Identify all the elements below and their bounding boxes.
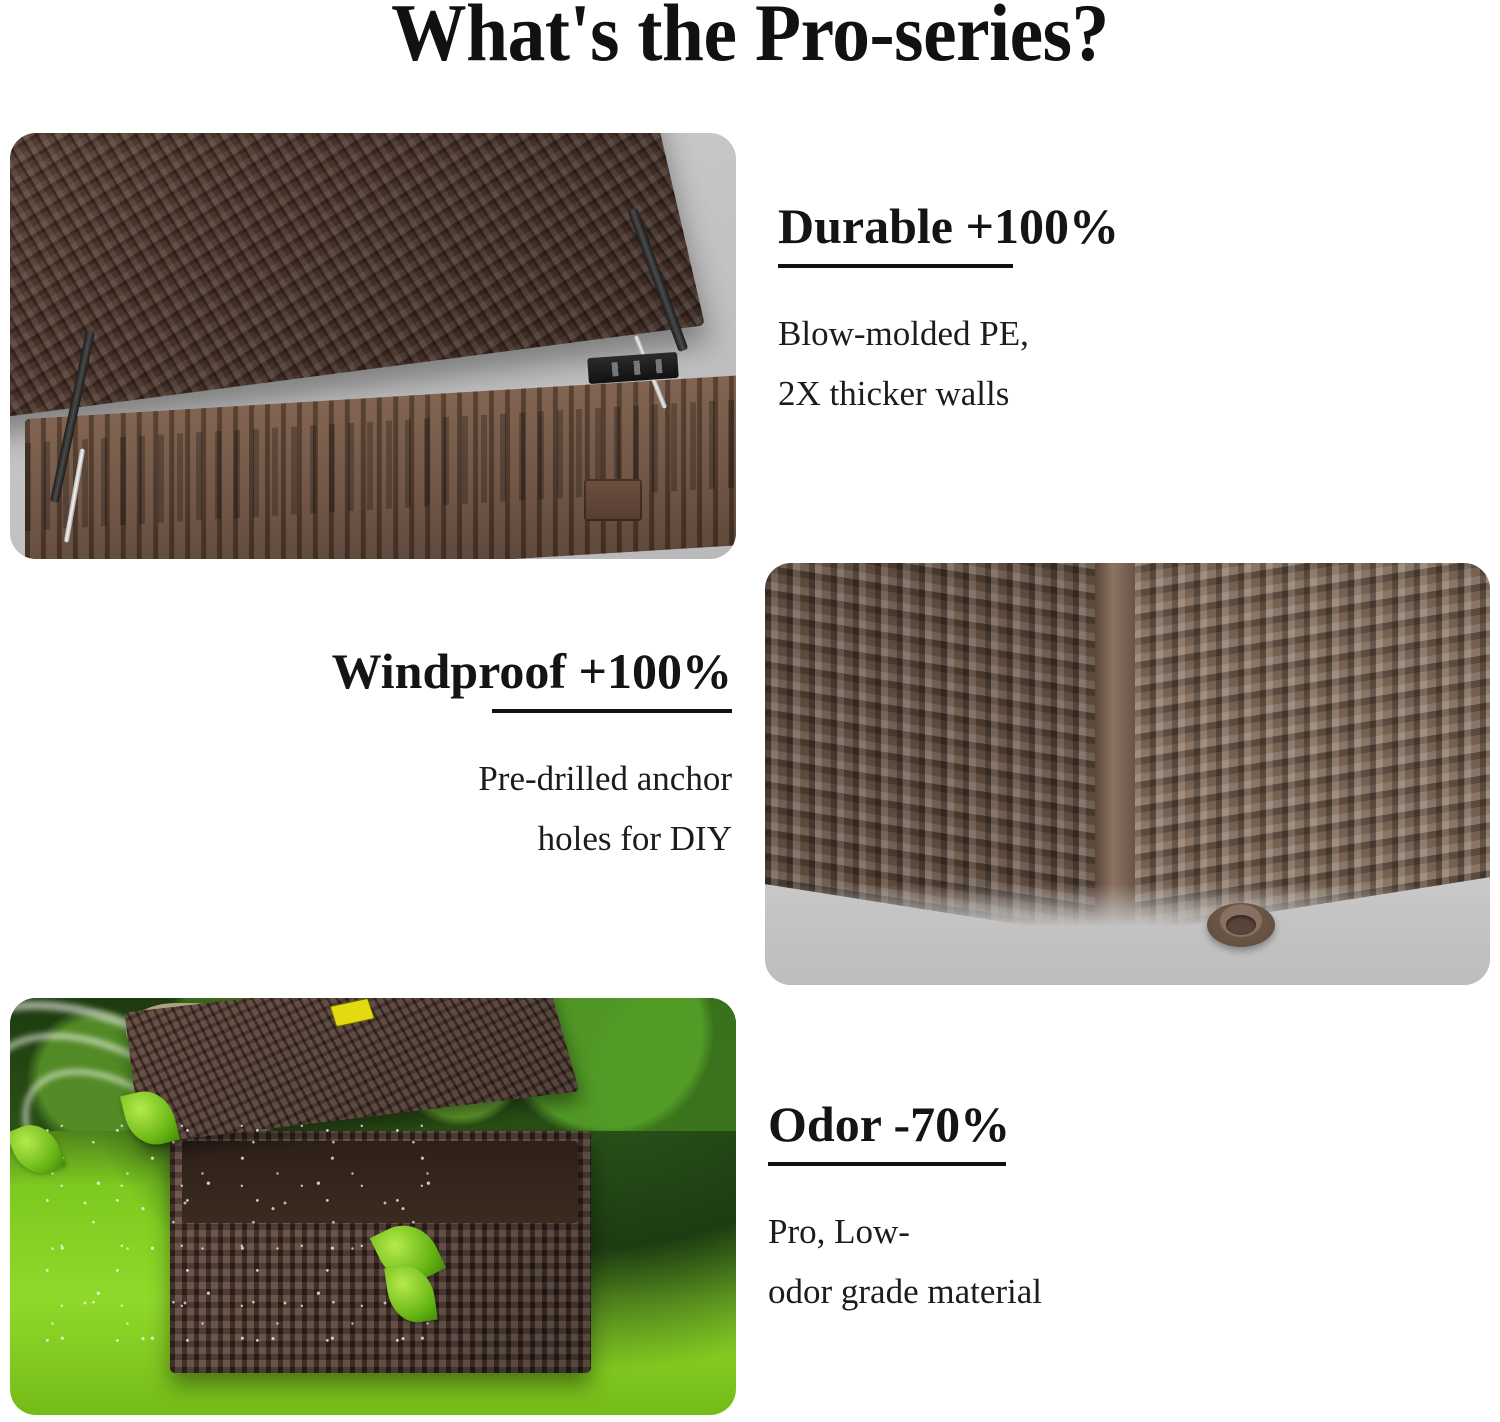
feature-body-line-1: Pro, Low- xyxy=(768,1202,1388,1262)
feature-underline-odor xyxy=(768,1162,1006,1166)
feature-underline-durable xyxy=(778,264,1013,268)
wicker-panel-left xyxy=(765,563,1106,939)
feature-block-durable: Durable +100% Blow-molded PE, 2X thicker… xyxy=(778,200,1378,424)
feature-heading-windproof: Windproof +100% xyxy=(270,645,732,698)
feature-body-durable: Blow-molded PE, 2X thicker walls xyxy=(778,304,1378,424)
lid-hinge xyxy=(587,351,679,383)
page-title: What's the Pro-series? xyxy=(60,0,1440,80)
product-photo-open-box xyxy=(10,133,736,559)
anchor-foot-icon xyxy=(1207,903,1275,947)
feature-heading-odor: Odor -70% xyxy=(768,1098,1388,1151)
side-handle xyxy=(584,479,642,521)
feature-body-line-2: odor grade material xyxy=(768,1262,1388,1322)
feature-body-line-2: holes for DIY xyxy=(270,809,732,869)
deck-box-body xyxy=(25,375,736,559)
product-photo-wicker-corner xyxy=(765,563,1490,985)
feature-body-odor: Pro, Low- odor grade material xyxy=(768,1202,1388,1322)
feature-body-line-2: 2X thicker walls xyxy=(778,364,1378,424)
feature-heading-durable: Durable +100% xyxy=(778,200,1378,253)
feature-block-windproof: Windproof +100% Pre-drilled anchor holes… xyxy=(270,645,732,869)
product-photo-garden-scene xyxy=(10,998,736,1415)
feature-body-windproof: Pre-drilled anchor holes for DIY xyxy=(270,749,732,869)
feature-underline-windproof xyxy=(492,709,732,713)
infographic-page: What's the Pro-series? Durable +100% Blo… xyxy=(0,0,1500,1422)
feature-body-line-1: Blow-molded PE, xyxy=(778,304,1378,364)
feature-body-line-1: Pre-drilled anchor xyxy=(270,749,732,809)
wicker-panel-right xyxy=(1106,563,1490,939)
warning-label-icon xyxy=(329,998,374,1027)
feature-block-odor: Odor -70% Pro, Low- odor grade material xyxy=(768,1098,1388,1322)
base-shadow xyxy=(765,884,1490,985)
